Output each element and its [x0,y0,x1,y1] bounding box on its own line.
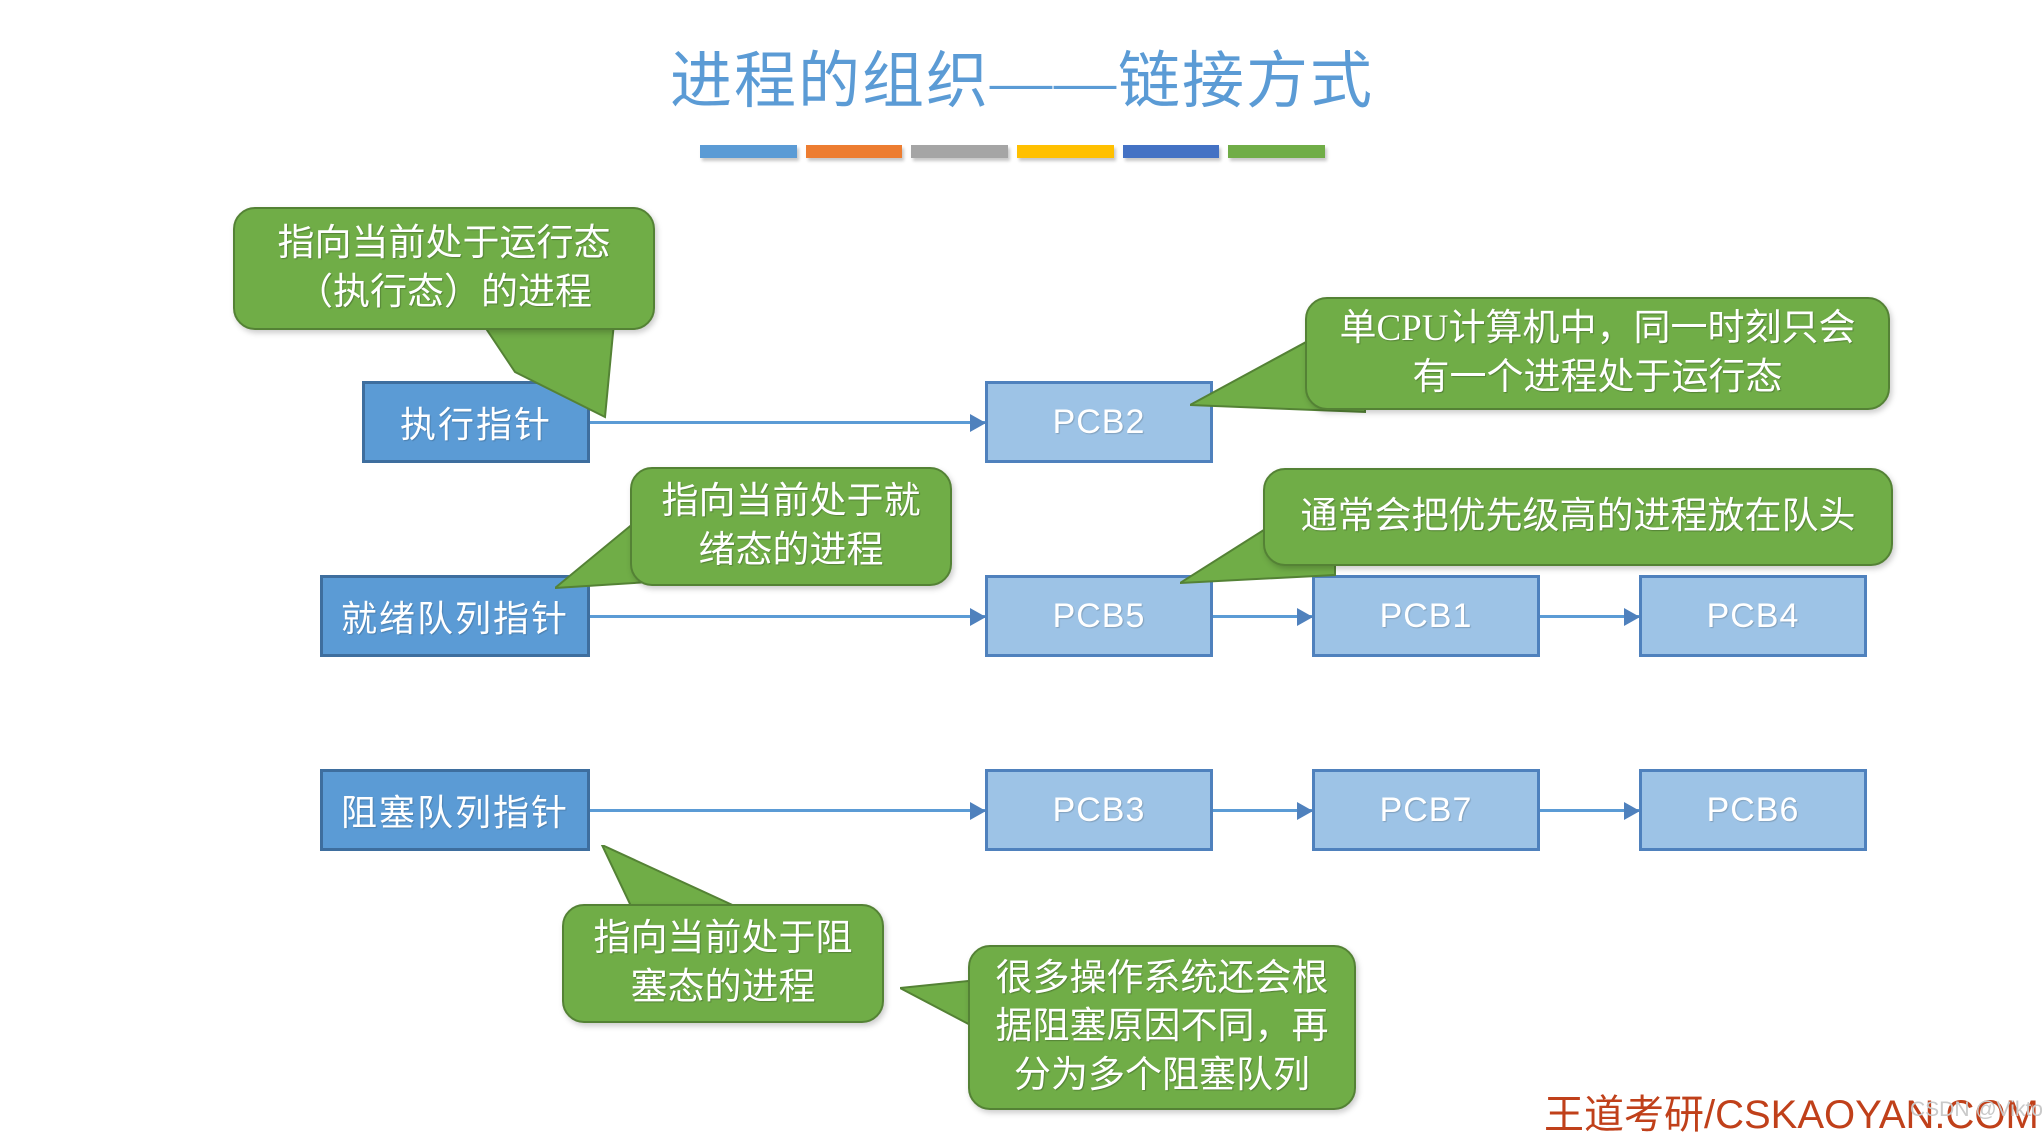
callout-text: 单CPU计算机中，同一时刻只会 有一个进程处于运行态 [1329,305,1866,401]
callout-text: 指向当前处于运行态 （执行态）的进程 [257,220,631,316]
pcb-box-pcb7[interactable]: PCB7 [1312,769,1540,851]
callout-priority-head-note: 通常会把优先级高的进程放在队头 [1263,468,1893,566]
pointer-box-label: 就绪队列指针 [341,590,569,642]
pcb-box-label: PCB1 [1380,597,1473,636]
pcb-box-pcb1[interactable]: PCB1 [1312,575,1540,657]
arrow-ready-to-pcb5 [590,615,985,618]
callout-text: 指向当前处于就 绪态的进程 [654,478,928,574]
pcb-box-pcb4[interactable]: PCB4 [1639,575,1867,657]
pcb-box-pcb3[interactable]: PCB3 [985,769,1213,851]
arrow-pcb7-to-pcb6 [1540,809,1639,812]
callout-single-cpu-note: 单CPU计算机中，同一时刻只会 有一个进程处于运行态 [1305,297,1890,410]
pcb-box-pcb2[interactable]: PCB2 [985,381,1213,463]
arrow-pcb3-to-pcb7 [1213,809,1312,812]
pcb-box-label: PCB6 [1707,791,1800,830]
callout-blocked-pointer-note: 指向当前处于阻 塞态的进程 [562,904,884,1023]
rule-segment-1 [700,145,797,158]
pcb-box-label: PCB3 [1053,791,1146,830]
page-title: 进程的组织——链接方式 [0,30,2044,120]
callout-text: 指向当前处于阻 塞态的进程 [586,915,860,1011]
pointer-box-label: 阻塞队列指针 [341,784,569,836]
pointer-box-execution[interactable]: 执行指针 [362,381,590,463]
pointer-box-ready-queue[interactable]: 就绪队列指针 [320,575,590,657]
pcb-box-pcb5[interactable]: PCB5 [985,575,1213,657]
pcb-box-label: PCB7 [1380,791,1473,830]
callout-text: 通常会把优先级高的进程放在队头 [1287,493,1869,541]
pcb-box-label: PCB5 [1053,597,1146,636]
callout-running-pointer-note: 指向当前处于运行态 （执行态）的进程 [233,207,655,330]
arrow-pcb1-to-pcb4 [1540,615,1639,618]
callout-ready-pointer-note: 指向当前处于就 绪态的进程 [630,467,952,586]
arrow-blocked-to-pcb3 [590,809,985,812]
callout-multi-block-queue-note: 很多操作系统还会根 据阻塞原因不同，再 分为多个阻塞队列 [968,945,1356,1110]
arrow-pcb5-to-pcb1 [1213,615,1312,618]
pcb-box-pcb6[interactable]: PCB6 [1639,769,1867,851]
rule-segment-3 [911,145,1008,158]
rule-segment-5 [1123,145,1220,158]
pcb-box-label: PCB2 [1053,403,1146,442]
pointer-box-blocked-queue[interactable]: 阻塞队列指针 [320,769,590,851]
csdn-watermark: CSDN @Viktoriae [1910,1098,2044,1122]
slide-canvas: 进程的组织——链接方式 执行指针 PCB2 就绪队列指针 PCB5 PCB1 P… [0,0,2044,1142]
title-decorative-rule [700,145,1325,161]
pointer-box-label: 执行指针 [400,396,552,448]
rule-segment-4 [1017,145,1114,158]
callout-text: 很多操作系统还会根 据阻塞原因不同，再 分为多个阻塞队列 [992,955,1332,1099]
arrow-exec-to-pcb2 [590,421,985,424]
rule-segment-6 [1228,145,1325,158]
pcb-box-label: PCB4 [1707,597,1800,636]
rule-segment-2 [806,145,903,158]
